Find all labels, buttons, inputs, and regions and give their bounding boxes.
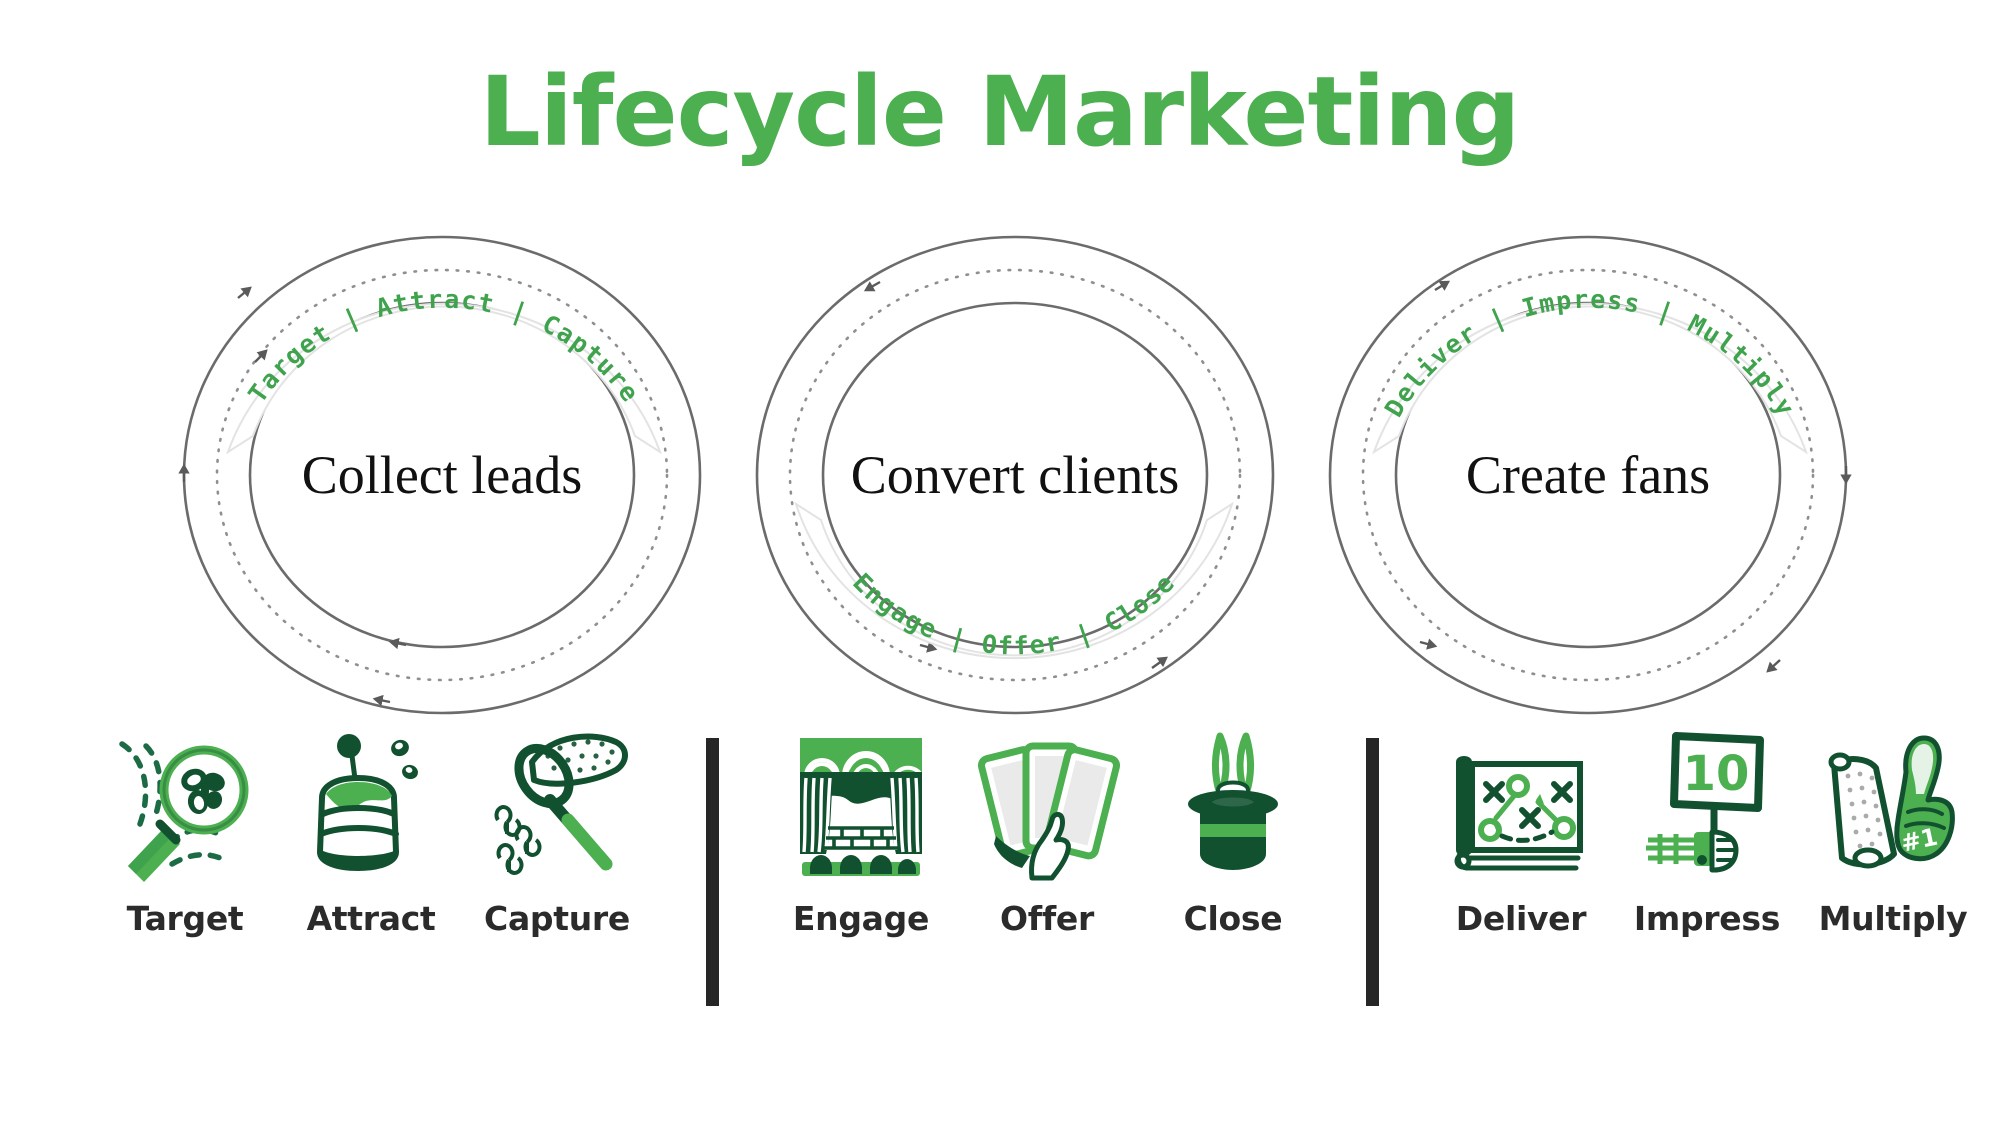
stage-label-deliver: Deliver xyxy=(1456,899,1586,938)
stage-item-target[interactable]: Target xyxy=(92,728,278,938)
stage-group-create-fans: Deliver 10 xyxy=(1428,728,1986,938)
score-card-ten-icon: 10 xyxy=(1632,728,1782,883)
stage-group-convert-clients: Engage xyxy=(768,728,1326,938)
banner-collect-leads: Target | Attract | Capture xyxy=(228,285,660,452)
banner-convert-clients: Engage | Offer | Close xyxy=(796,504,1232,660)
stage-item-capture[interactable]: Capture xyxy=(464,728,650,938)
magician-hat-rabbit-icon xyxy=(1158,728,1308,883)
svg-text:Engage | Offer | Close: Engage | Offer | Close xyxy=(847,568,1181,661)
stage-item-impress[interactable]: 10 xyxy=(1614,728,1800,938)
banner-create-fans: Deliver | Impress | Multiply xyxy=(1374,285,1806,452)
butterfly-net-icon xyxy=(482,728,632,883)
foam-finger-number-one-icon: #1 xyxy=(1818,728,1968,883)
magnifying-glass-butterfly-icon xyxy=(110,728,260,883)
loop-label-create-fans: Create fans xyxy=(1466,444,1710,506)
stage-label-offer: Offer xyxy=(1000,899,1094,938)
stage-label-impress: Impress xyxy=(1634,899,1780,938)
playbook-blueprint-icon xyxy=(1446,728,1596,883)
stage-item-engage[interactable]: Engage xyxy=(768,728,954,938)
score-value: 10 xyxy=(1683,746,1750,802)
honey-pot-icon xyxy=(296,728,446,883)
lifecycle-marketing-infographic: Lifecycle Marketing xyxy=(0,0,1999,1137)
stage-item-multiply[interactable]: #1 Multiply xyxy=(1800,728,1986,938)
stage-label-close: Close xyxy=(1184,899,1283,938)
stage-group-collect-leads: Target xyxy=(92,728,650,938)
stage-item-deliver[interactable]: Deliver xyxy=(1428,728,1614,938)
page-title: Lifecycle Marketing xyxy=(0,62,1999,163)
stage-label-engage: Engage xyxy=(793,899,929,938)
theater-stage-icon xyxy=(786,728,936,883)
loop-label-convert-clients: Convert clients xyxy=(851,444,1179,506)
loop-label-collect-leads: Collect leads xyxy=(302,444,582,506)
stage-item-offer[interactable]: Offer xyxy=(954,728,1140,938)
group-divider-2 xyxy=(1366,738,1379,1006)
stage-label-target: Target xyxy=(127,899,244,938)
stage-label-multiply: Multiply xyxy=(1819,899,1968,938)
stage-item-close[interactable]: Close xyxy=(1140,728,1326,938)
stage-item-attract[interactable]: Attract xyxy=(278,728,464,938)
stage-label-capture: Capture xyxy=(484,899,630,938)
stage-label-attract: Attract xyxy=(307,899,436,938)
banner-stages-convert: Engage | Offer | Close xyxy=(847,568,1181,661)
stage-icon-strip: Target xyxy=(0,728,1999,1018)
group-divider-1 xyxy=(706,738,719,1006)
hand-fanning-cards-icon xyxy=(972,728,1122,883)
